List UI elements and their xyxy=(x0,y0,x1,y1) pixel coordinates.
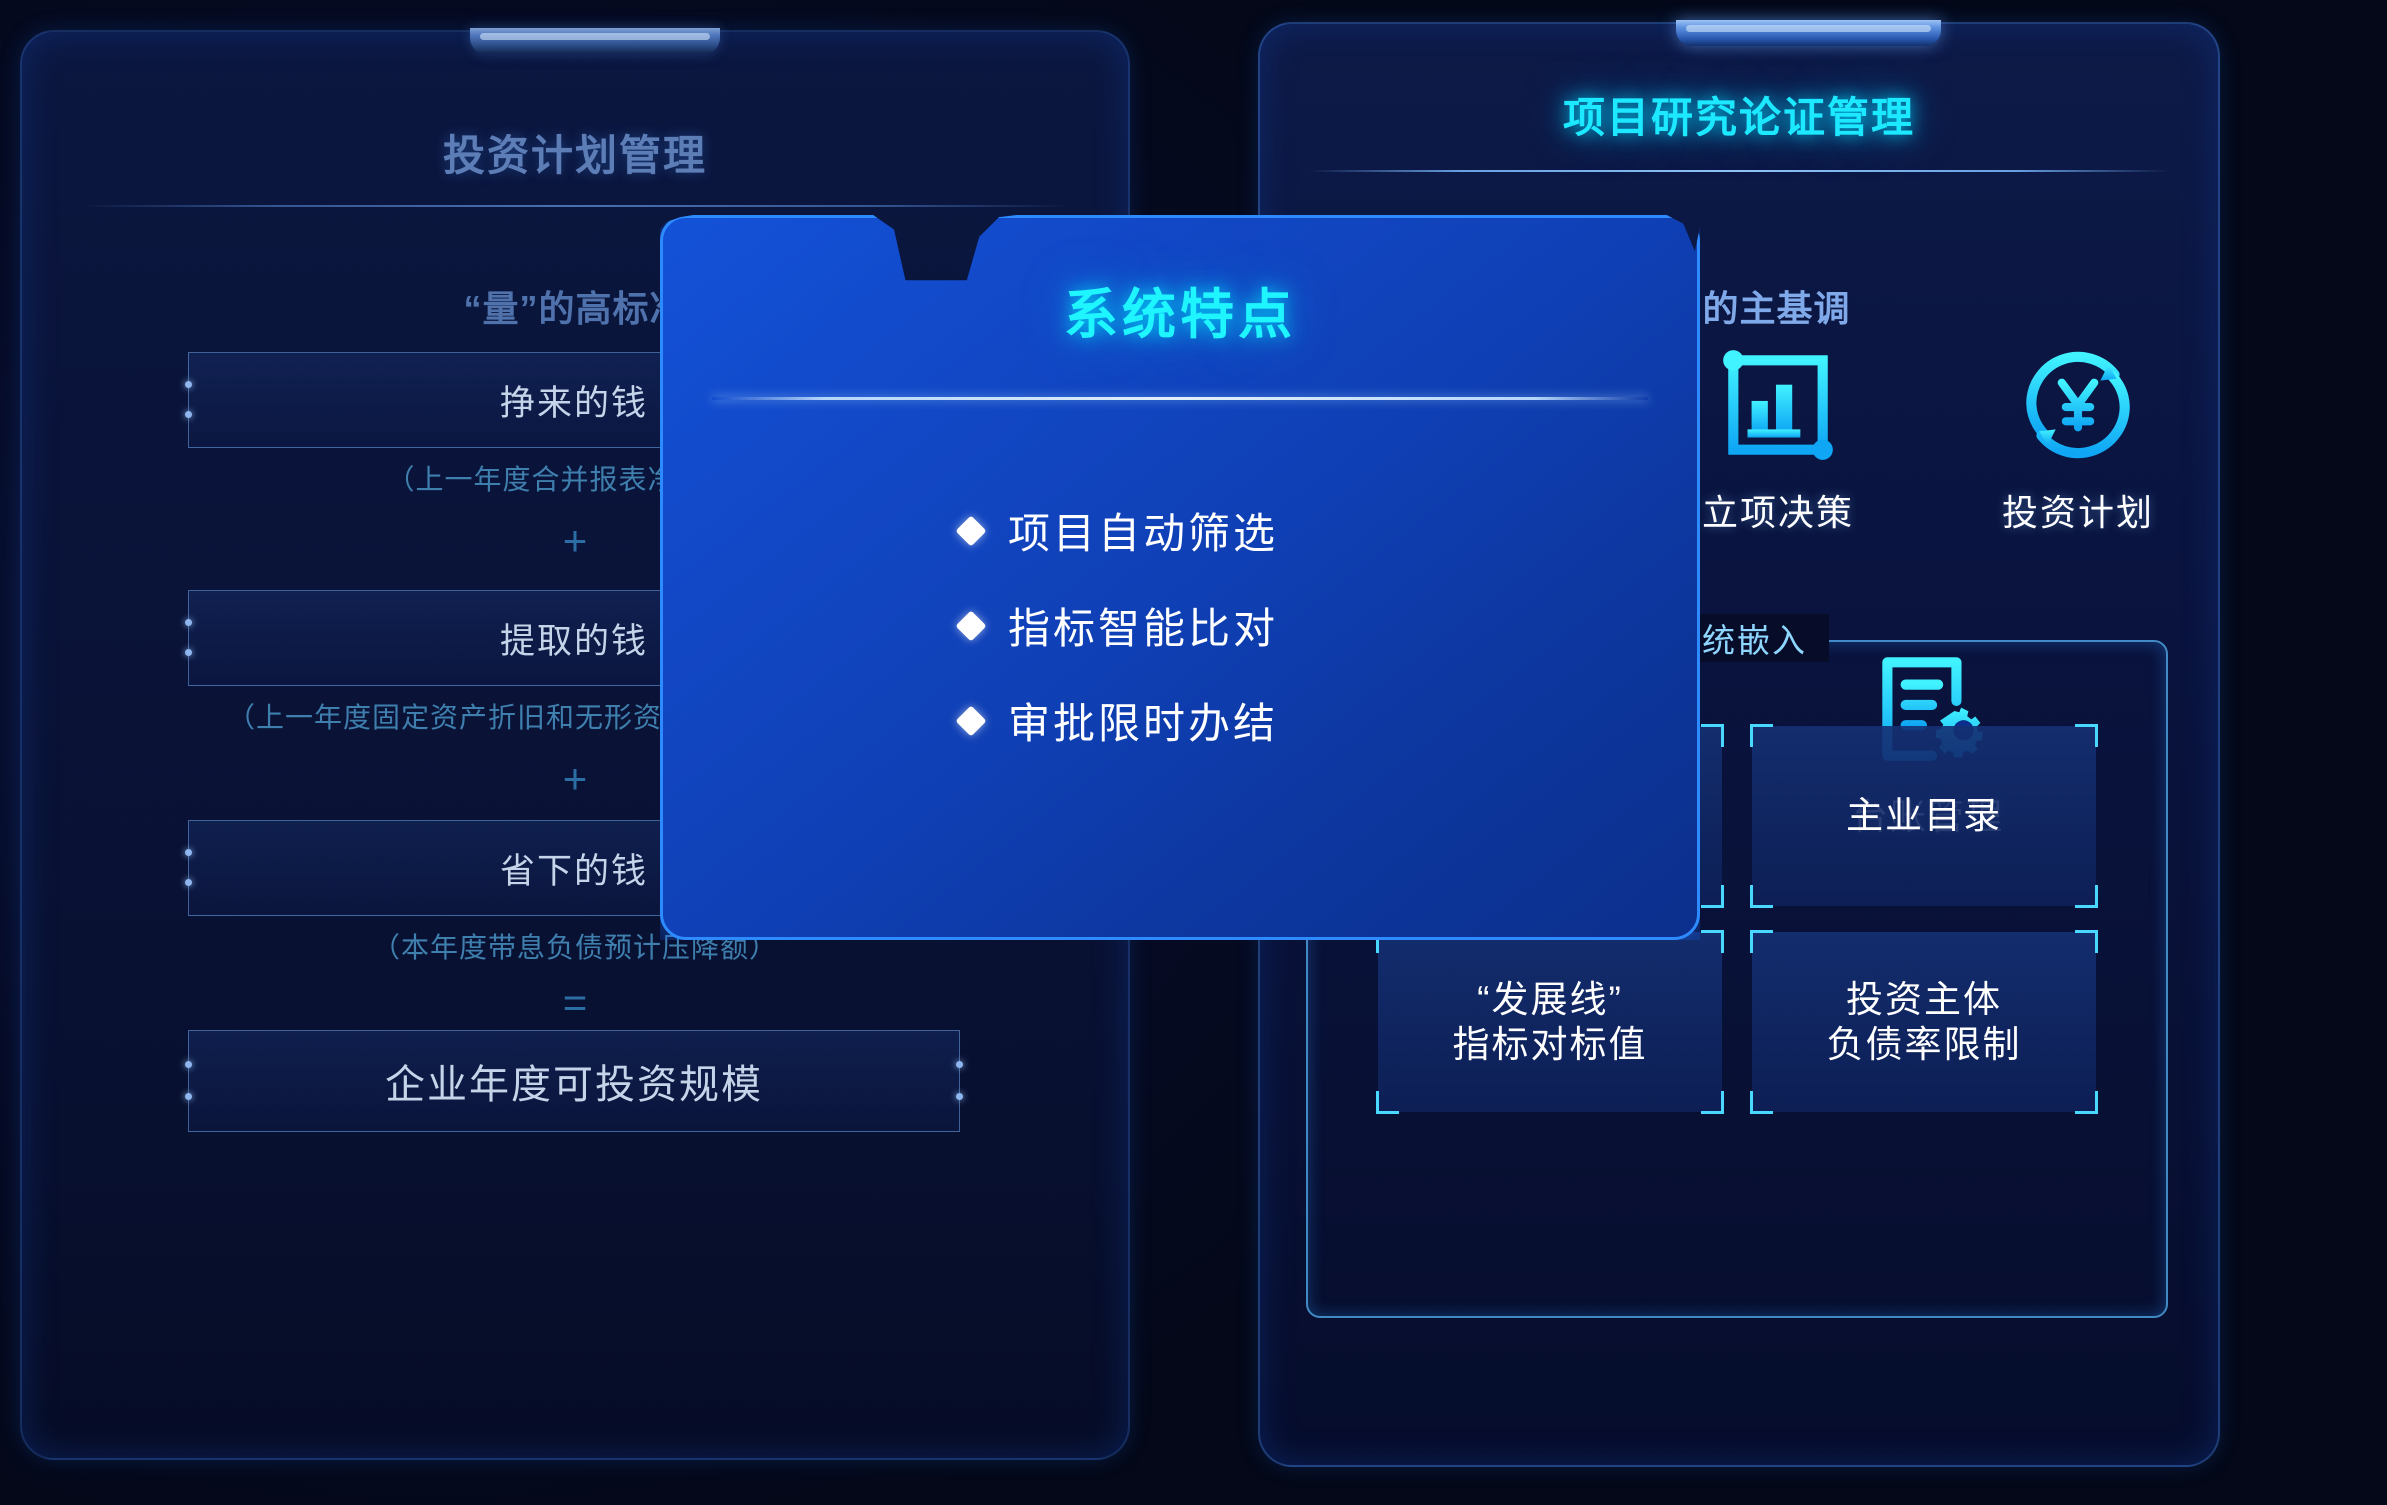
formula-box-saved-label: 省下的钱 xyxy=(500,843,648,894)
folder-card-divider xyxy=(712,397,1648,400)
corner-bracket-icon xyxy=(1701,930,1724,953)
formula-box-earned-label: 挣来的钱 xyxy=(500,375,648,426)
embed-box-label-line2: 负债率限制 xyxy=(1827,1022,2022,1067)
corner-bracket-icon xyxy=(2075,1091,2098,1114)
right-panel-title: 项目研究论证管理 xyxy=(1258,84,2220,145)
embed-box-development-line-benchmark[interactable]: “发展线” 指标对标值 xyxy=(1378,932,1722,1112)
right-panel-notch xyxy=(1676,20,1941,46)
node-dot xyxy=(185,411,192,418)
feature-list-item: 项目自动筛选 xyxy=(960,500,1278,561)
feature-list: 项目自动筛选 指标智能比对 审批限时办结 xyxy=(960,500,1278,785)
node-dot xyxy=(185,649,192,656)
feature-list-item: 审批限时办结 xyxy=(960,690,1278,751)
node-dot xyxy=(956,1061,963,1068)
embed-box-label-multiline: 投资主体 负债率限制 xyxy=(1827,977,2022,1067)
corner-bracket-icon xyxy=(2075,930,2098,953)
bar-chart-icon xyxy=(1713,340,1843,470)
slide-canvas: 投资计划管理 “量”的高标准 挣来的钱 （上一年度合并报表净利润） + 提取的钱… xyxy=(0,0,2387,1505)
corner-bracket-icon xyxy=(1750,930,1773,953)
corner-bracket-icon xyxy=(1750,885,1773,908)
node-dot xyxy=(956,1093,963,1100)
formula-box-result-label: 企业年度可投资规模 xyxy=(385,1052,763,1110)
node-dot xyxy=(185,1061,192,1068)
embed-box-main-business-catalog[interactable]: 主业目录 xyxy=(1752,726,2096,906)
corner-bracket-icon xyxy=(1701,724,1724,747)
diamond-bullet-icon xyxy=(955,515,986,546)
formula-box-result: 企业年度可投资规模 xyxy=(188,1030,960,1132)
corner-bracket-icon xyxy=(2075,724,2098,747)
embed-box-label-line2: 指标对标值 xyxy=(1453,1022,1648,1067)
node-dot xyxy=(185,849,192,856)
corner-bracket-icon xyxy=(1750,724,1773,747)
diamond-bullet-icon xyxy=(955,705,986,736)
left-panel-title: 投资计划管理 xyxy=(20,122,1130,183)
formula-box-extracted-label: 提取的钱 xyxy=(500,613,648,664)
left-title-divider xyxy=(80,205,1070,207)
embed-box-label: 主业目录 xyxy=(1846,793,2002,838)
feature-list-item: 指标智能比对 xyxy=(960,595,1278,656)
corner-bracket-icon xyxy=(1750,1091,1773,1114)
formula-operator-equals: = xyxy=(20,982,1130,1024)
right-title-divider xyxy=(1308,170,2170,172)
folder-card-title: 系统特点 xyxy=(660,270,1700,349)
icon-label-investment-plan: 投资计划 xyxy=(1958,484,2198,536)
system-features-folder-card: 系统特点 项目自动筛选 指标智能比对 审批限时办结 xyxy=(660,215,1700,940)
corner-bracket-icon xyxy=(1701,1091,1724,1114)
embed-box-label-multiline: “发展线” 指标对标值 xyxy=(1453,977,1648,1067)
embed-box-label-line1: “发展线” xyxy=(1453,977,1648,1022)
corner-bracket-icon xyxy=(1376,1091,1399,1114)
yen-refresh-icon xyxy=(2013,340,2143,470)
feature-label: 审批限时办结 xyxy=(1008,690,1278,751)
node-dot xyxy=(185,619,192,626)
feature-label: 项目自动筛选 xyxy=(1008,500,1278,561)
icon-item-investment-plan[interactable]: 投资计划 xyxy=(1958,340,2198,536)
left-panel-notch xyxy=(470,28,720,54)
diamond-bullet-icon xyxy=(955,610,986,641)
node-dot xyxy=(185,381,192,388)
feature-label: 指标智能比对 xyxy=(1008,595,1278,656)
corner-bracket-icon xyxy=(1701,885,1724,908)
node-dot xyxy=(185,879,192,886)
folder-content: 系统特点 项目自动筛选 指标智能比对 审批限时办结 xyxy=(660,215,1700,940)
embed-box-investor-debt-ratio-limit[interactable]: 投资主体 负债率限制 xyxy=(1752,932,2096,1112)
embed-box-label-line1: 投资主体 xyxy=(1827,977,2022,1022)
corner-bracket-icon xyxy=(2075,885,2098,908)
node-dot xyxy=(185,1093,192,1100)
